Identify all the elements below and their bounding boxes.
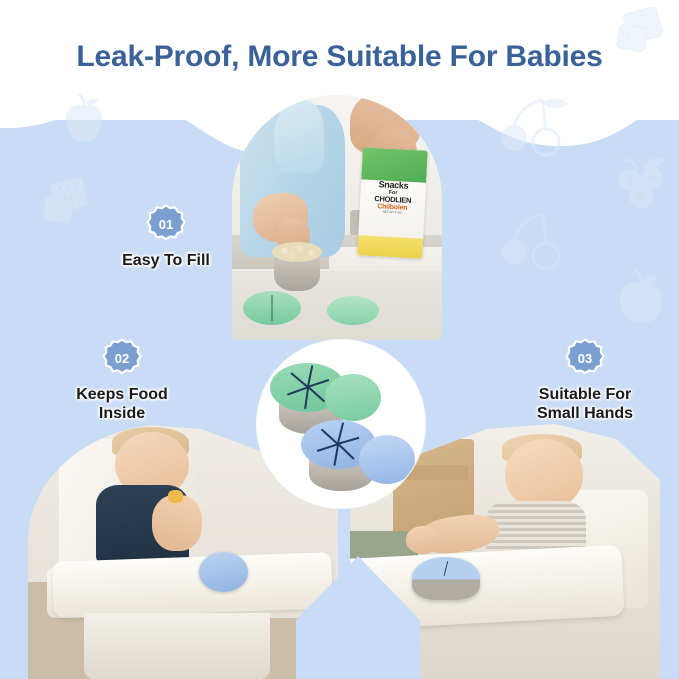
- apple-motif: [612, 268, 670, 328]
- badge-02: 02: [102, 338, 142, 378]
- blue-snack-cup-lid: [199, 552, 249, 593]
- green-disc: [327, 296, 380, 325]
- blue-snack-cup: [412, 557, 480, 600]
- badge-01: 01: [146, 204, 186, 244]
- feature-callout-03: 03 Suitable For Small Hands: [500, 338, 670, 424]
- feature-label: Keeps Food Inside: [52, 386, 192, 424]
- blue-sealing-disc: [359, 435, 415, 484]
- blueberry-motif: [612, 152, 672, 214]
- badge-number: 02: [102, 338, 142, 378]
- snack-pouch: Snacks For CHODLIEN Chilbolen NET WT 5 O…: [357, 147, 428, 258]
- page-title: Leak-Proof, More Suitable For Babies: [0, 40, 679, 74]
- feature-label: Suitable For Small Hands: [500, 386, 670, 424]
- filling-snack-cup-photo: Snacks For CHODLIEN Chilbolen NET WT 5 O…: [232, 95, 442, 340]
- infographic-canvas: Leak-Proof, More Suitable For Babies Sna…: [0, 0, 679, 679]
- snack-cup-blue: [301, 411, 405, 505]
- cherry-motif: [498, 96, 572, 158]
- product-hero-photo: [257, 340, 425, 508]
- badge-number: 01: [146, 204, 186, 244]
- feature-label: Easy To Fill: [96, 252, 236, 271]
- badge-03: 03: [565, 338, 605, 378]
- cracker-motif: [36, 176, 100, 232]
- apple-motif: [58, 92, 110, 146]
- feature-callout-01: 01 Easy To Fill: [96, 204, 236, 271]
- badge-number: 03: [565, 338, 605, 378]
- feature-callout-02: 02 Keeps Food Inside: [52, 338, 192, 424]
- cherry-motif: [498, 210, 572, 272]
